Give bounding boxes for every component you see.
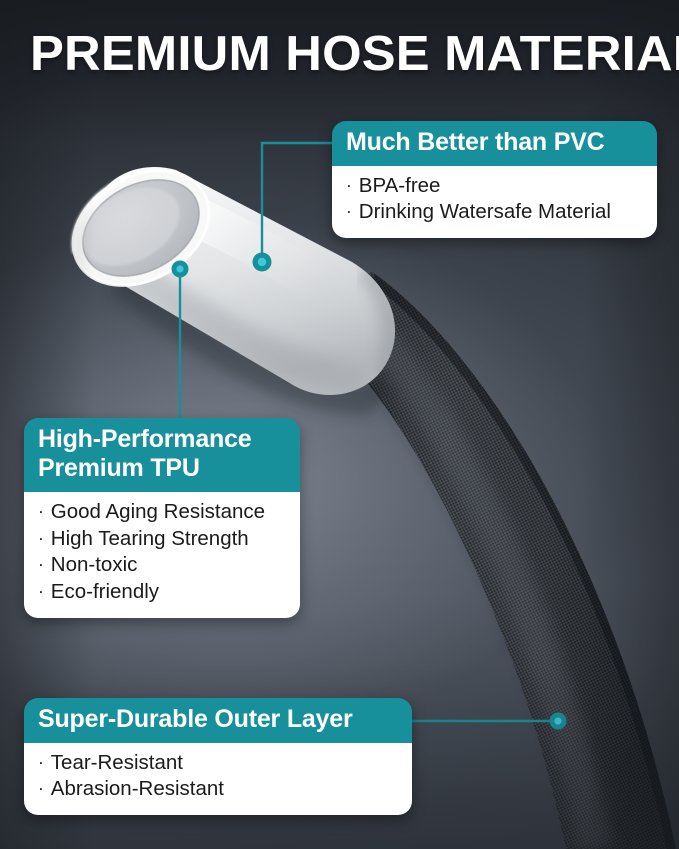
list-item-label: Good Aging Resistance: [51, 499, 265, 526]
list-item-label: Eco-friendly: [51, 579, 159, 606]
bullet-icon: ·: [38, 503, 44, 520]
list-item-label: Tear-Resistant: [51, 750, 183, 777]
bullet-icon: ·: [38, 583, 44, 600]
list-item: · High Tearing Strength: [38, 526, 286, 553]
list-item-label: BPA-free: [359, 173, 441, 200]
bullet-icon: ·: [38, 530, 44, 547]
list-item: · Abrasion-Resistant: [38, 776, 398, 803]
callout-heading-tpu: High-Performance Premium TPU: [24, 418, 300, 492]
list-item: · Good Aging Resistance: [38, 499, 286, 526]
callout-card-pvc: Much Better than PVC · BPA-free · Drinki…: [332, 121, 657, 238]
callout-body-tpu: · Good Aging Resistance · High Tearing S…: [24, 492, 300, 618]
bullet-icon: ·: [38, 556, 44, 573]
page-title: PREMIUM HOSE MATERIAL: [30, 30, 677, 80]
callout-body-outer-layer: · Tear-Resistant · Abrasion-Resistant: [24, 743, 412, 815]
list-item-label: Non-toxic: [51, 552, 138, 579]
list-item-label: Abrasion-Resistant: [51, 776, 224, 803]
bullet-icon: ·: [346, 177, 352, 194]
callout-heading-pvc: Much Better than PVC: [332, 121, 657, 166]
callout-heading-tpu-line2: Premium TPU: [38, 454, 286, 483]
callout-heading-outer-layer: Super-Durable Outer Layer: [24, 698, 412, 743]
list-item: · Drinking Watersafe Material: [346, 199, 643, 226]
callout-heading-tpu-line1: High-Performance: [38, 425, 286, 454]
callout-card-tpu: High-Performance Premium TPU · Good Agin…: [24, 418, 300, 618]
list-item: · Tear-Resistant: [38, 750, 398, 777]
callout-card-outer-layer: Super-Durable Outer Layer · Tear-Resista…: [24, 698, 412, 815]
list-item-label: Drinking Watersafe Material: [359, 199, 611, 226]
callout-body-pvc: · BPA-free · Drinking Watersafe Material: [332, 166, 657, 238]
bullet-icon: ·: [38, 780, 44, 797]
list-item: · Eco-friendly: [38, 579, 286, 606]
list-item-label: High Tearing Strength: [51, 526, 249, 553]
list-item: · BPA-free: [346, 173, 643, 200]
infographic-canvas: PREMIUM HOSE MATERIAL Much Better than P…: [0, 0, 679, 849]
bullet-icon: ·: [346, 203, 352, 220]
list-item: · Non-toxic: [38, 552, 286, 579]
bullet-icon: ·: [38, 754, 44, 771]
